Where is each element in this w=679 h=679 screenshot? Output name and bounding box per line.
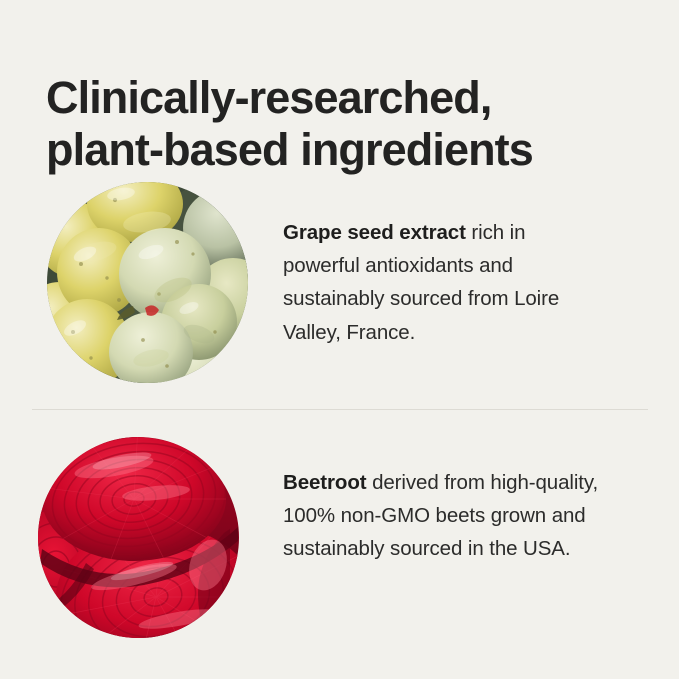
beetroot-photo — [38, 437, 239, 638]
ingredient-description-grape-seed-extract: Grape seed extract rich in powerful anti… — [283, 216, 601, 349]
ingredients-infographic: Clinically-researched, plant-based ingre… — [0, 0, 679, 679]
page-title-line-2: plant-based ingredients — [46, 124, 646, 176]
ingredient-description-beetroot: Beetroot derived from high-quality, 100%… — [283, 466, 631, 566]
ingredient-row-grape-seed-extract: Grape seed extract rich in powerful anti… — [47, 182, 601, 383]
section-divider — [32, 409, 648, 410]
ingredient-lead-grape-seed-extract: Grape seed extract — [283, 221, 466, 244]
page-title-line-1: Clinically-researched, — [46, 72, 646, 124]
grapes-illustration — [47, 182, 248, 383]
beetroot-illustration — [38, 437, 239, 638]
ingredient-row-beetroot: Beetroot derived from high-quality, 100%… — [38, 437, 631, 638]
page-title: Clinically-researched, plant-based ingre… — [46, 72, 646, 176]
ingredient-lead-beetroot: Beetroot — [283, 471, 366, 494]
grapes-photo — [47, 182, 248, 383]
